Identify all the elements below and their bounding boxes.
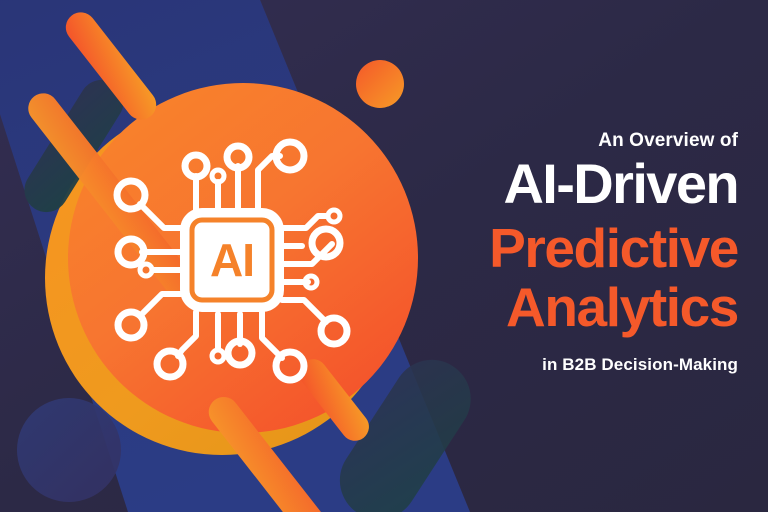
headline-eyebrow: An Overview of [598, 131, 738, 150]
chip-ai-label: AI [192, 220, 272, 300]
headline-subline: in B2B Decision-Making [542, 356, 738, 373]
headline-line-2: Predictive [489, 221, 738, 276]
ai-predictive-analytics-banner: AI An Overview of AI-Driven Predictive A… [0, 0, 768, 512]
headline-line-3: Analytics [506, 280, 738, 335]
headline-line-1: AI-Driven [503, 156, 738, 212]
